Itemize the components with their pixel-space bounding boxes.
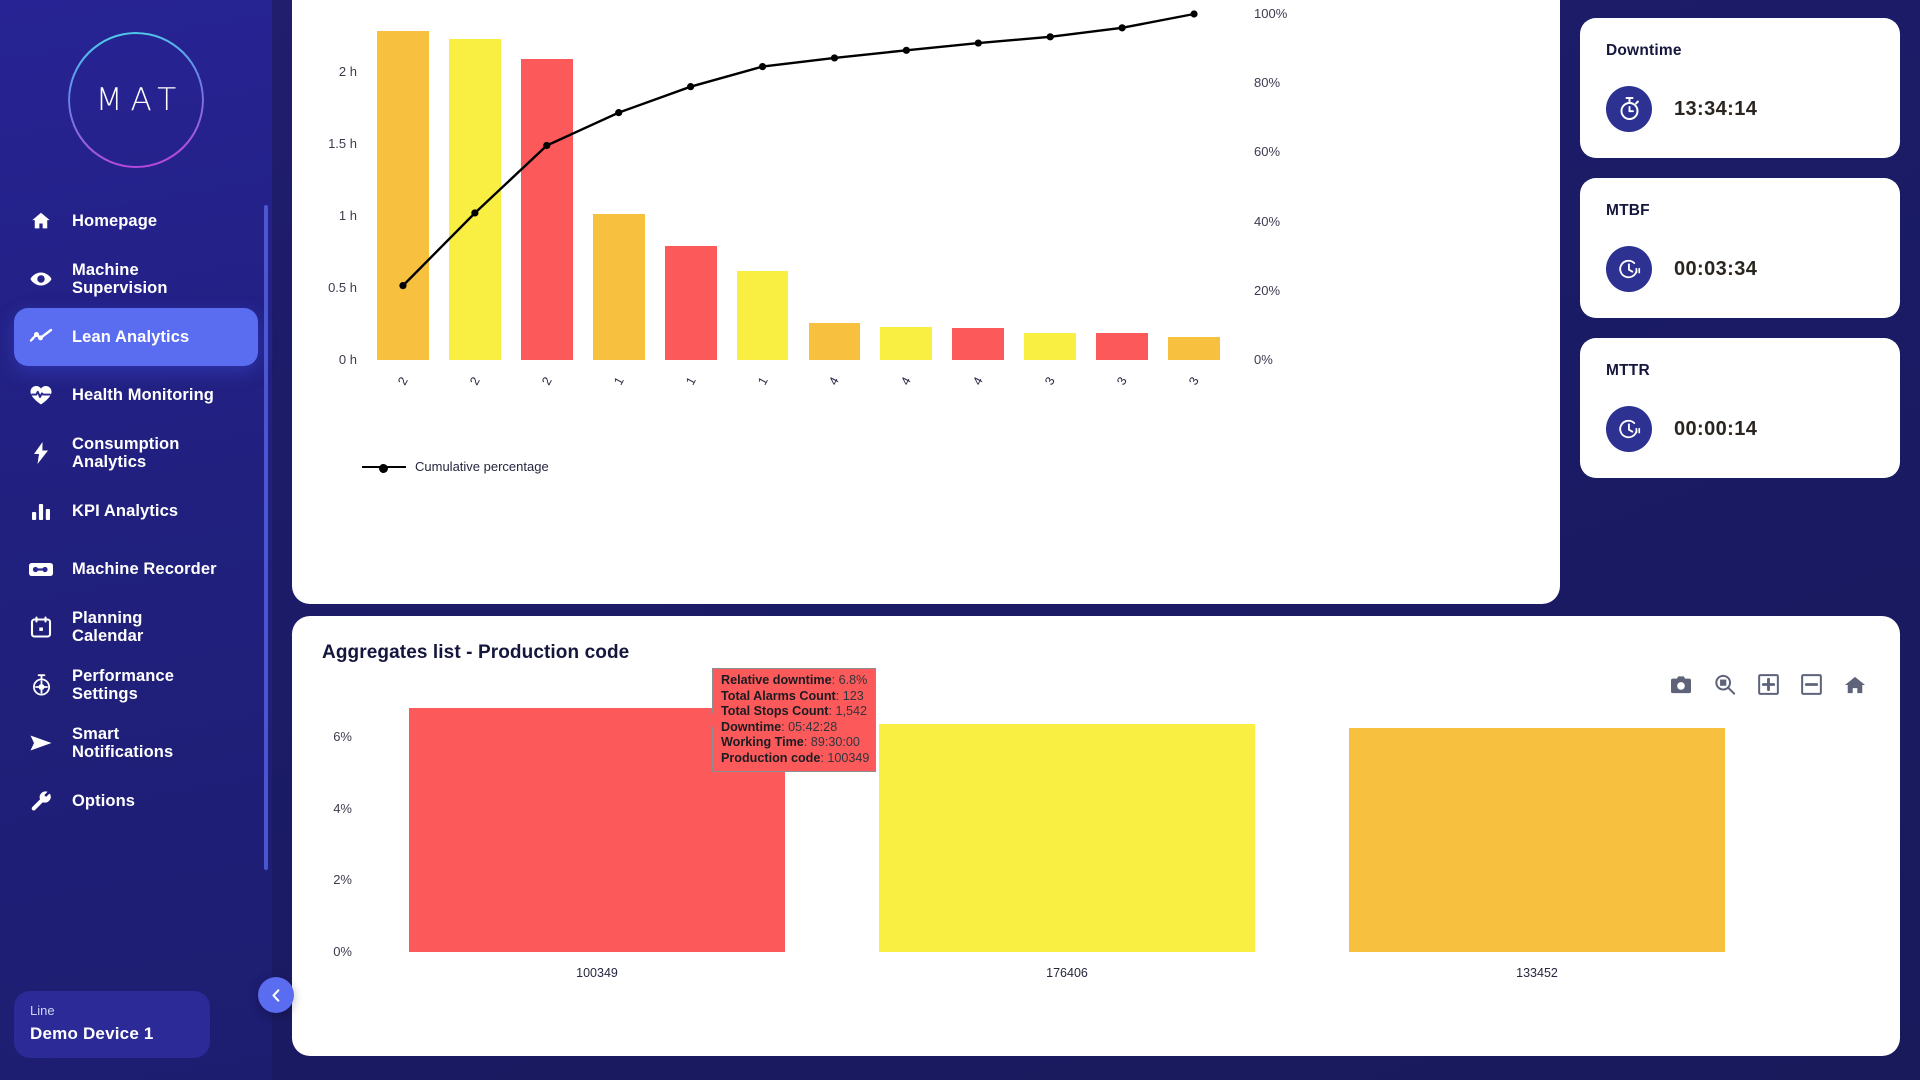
- sidebar-item-label: Performance Settings: [72, 667, 174, 704]
- tooltip-row: Working Time: 89:30:00: [721, 735, 869, 751]
- aggregates-bar[interactable]: [879, 724, 1255, 952]
- pareto-ytick-left: 2 h: [301, 64, 357, 79]
- chevron-left-icon: [269, 988, 284, 1003]
- tooltip-key: Total Alarms Count: [721, 689, 836, 703]
- pareto-ytick-right: 100%: [1254, 6, 1287, 21]
- sidebar-item-label: Planning Calendar: [72, 609, 143, 646]
- sidebar-item-label: Health Monitoring: [72, 386, 214, 404]
- bar-chart-icon: [26, 500, 56, 522]
- device-label: Line: [30, 1003, 194, 1018]
- aggregates-xtick: 133452: [1477, 966, 1597, 980]
- recorder-icon: [26, 559, 56, 579]
- pareto-xtick: 2: [535, 367, 559, 395]
- kpi-column: Downtime 13:34:14 MTBF 00:03:34: [1580, 0, 1900, 498]
- sidebar-item-smart-notifications[interactable]: Smart Notifications: [14, 714, 258, 772]
- kpi-value: 00:00:14: [1674, 418, 1757, 441]
- tooltip-row: Production code: 100349: [721, 751, 869, 767]
- sidebar-item-label: Machine Supervision: [72, 261, 168, 298]
- pareto-xtick: 3: [1038, 367, 1062, 395]
- aggregates-panel: Aggregates list - Production code 0%2%4%…: [292, 616, 1900, 1056]
- pareto-xtick: 2: [463, 367, 487, 395]
- tooltip-value: : 89:30:00: [804, 735, 860, 749]
- pareto-bar[interactable]: [952, 328, 1004, 360]
- sidebar-nav: Homepage Machine Supervision Lean Analyt…: [0, 192, 272, 830]
- pareto-ytick-left: 1.5 h: [301, 136, 357, 151]
- tooltip-value: : 100349: [820, 751, 869, 765]
- sidebar-item-homepage[interactable]: Homepage: [14, 192, 258, 250]
- sidebar-item-health-monitoring[interactable]: Health Monitoring: [14, 366, 258, 424]
- bar-tooltip: Relative downtime: 6.8%Total Alarms Coun…: [712, 668, 876, 772]
- sidebar-collapse-button[interactable]: [258, 977, 294, 1013]
- pareto-ytick-right: 60%: [1254, 144, 1280, 159]
- pareto-plot-area: 0 h0.5 h1 h1.5 h2 h0%20%40%60%80%100%222…: [292, 0, 1560, 604]
- aggregates-bar[interactable]: [1349, 728, 1725, 952]
- pareto-xtick: 4: [895, 367, 919, 395]
- pareto-ytick-right: 80%: [1254, 75, 1280, 90]
- pareto-ytick-right: 40%: [1254, 214, 1280, 229]
- tooltip-value: : 05:42:28: [781, 720, 837, 734]
- pareto-xtick: 3: [1110, 367, 1134, 395]
- pareto-ytick-left: 1 h: [301, 208, 357, 223]
- kpi-title: Downtime: [1606, 42, 1874, 60]
- app-root: MAT Homepage Machine Supervision Lean An: [0, 0, 1920, 1080]
- sidebar-item-label: Smart Notifications: [72, 725, 173, 762]
- logo-ring: [68, 32, 204, 168]
- tooltip-value: : 123: [836, 689, 864, 703]
- kpi-title: MTBF: [1606, 202, 1874, 220]
- sidebar-item-label: Consumption Analytics: [72, 435, 179, 472]
- pareto-xtick: 4: [823, 367, 847, 395]
- sidebar-item-machine-supervision[interactable]: Machine Supervision: [14, 250, 258, 308]
- pareto-bar[interactable]: [1096, 333, 1148, 360]
- pareto-bar[interactable]: [377, 31, 429, 360]
- sidebar-item-label: KPI Analytics: [72, 502, 178, 520]
- aggregates-ytick: 6%: [298, 729, 352, 744]
- sidebar-item-options[interactable]: Options: [14, 772, 258, 830]
- sidebar-item-performance-settings[interactable]: Performance Settings: [14, 656, 258, 714]
- pareto-xtick: 1: [607, 367, 631, 395]
- eye-icon: [26, 267, 56, 291]
- device-name: Demo Device 1: [30, 1024, 194, 1044]
- tooltip-value: : 6.8%: [832, 673, 868, 687]
- wrench-icon: [26, 790, 56, 813]
- tooltip-row: Total Stops Count: 1,542: [721, 704, 869, 720]
- aggregates-ytick: 2%: [298, 872, 352, 887]
- tooltip-key: Downtime: [721, 720, 781, 734]
- stopwatch-icon: [1606, 86, 1652, 132]
- kpi-card-downtime: Downtime 13:34:14: [1580, 18, 1900, 158]
- kpi-value: 13:34:14: [1674, 98, 1757, 121]
- sidebar-item-consumption-analytics[interactable]: Consumption Analytics: [14, 424, 258, 482]
- kpi-value: 00:03:34: [1674, 258, 1757, 281]
- chart-legend[interactable]: Cumulative percentage: [362, 459, 549, 474]
- pareto-bar[interactable]: [593, 214, 645, 360]
- tooltip-row: Relative downtime: 6.8%: [721, 673, 869, 689]
- sidebar-item-label: Machine Recorder: [72, 560, 217, 578]
- kpi-title: MTTR: [1606, 362, 1874, 380]
- sidebar-item-machine-recorder[interactable]: Machine Recorder: [14, 540, 258, 598]
- device-selector[interactable]: Line Demo Device 1: [14, 991, 210, 1058]
- sidebar-item-planning-calendar[interactable]: Planning Calendar: [14, 598, 258, 656]
- cumulative-percentage-line: [292, 0, 1292, 434]
- aggregates-xtick: 100349: [537, 966, 657, 980]
- pareto-ytick-left: 0 h: [301, 352, 357, 367]
- pareto-bar[interactable]: [809, 323, 861, 360]
- sidebar-item-lean-analytics[interactable]: Lean Analytics: [14, 308, 258, 366]
- tooltip-key: Working Time: [721, 735, 804, 749]
- pareto-bar[interactable]: [880, 327, 932, 360]
- sidebar-item-label: Options: [72, 792, 135, 810]
- pareto-ytick-right: 20%: [1254, 283, 1280, 298]
- sidebar-item-label: Homepage: [72, 212, 157, 230]
- pareto-ytick-left: 0.5 h: [301, 280, 357, 295]
- sidebar: MAT Homepage Machine Supervision Lean An: [0, 0, 272, 1080]
- clock-pause-icon: [1606, 406, 1652, 452]
- aggregates-ytick: 0%: [298, 944, 352, 959]
- pareto-bar[interactable]: [1024, 333, 1076, 360]
- pareto-xtick: 4: [966, 367, 990, 395]
- pareto-xtick: 1: [751, 367, 775, 395]
- kpi-card-mttr: MTTR 00:00:14: [1580, 338, 1900, 478]
- pareto-ytick-right: 0%: [1254, 352, 1273, 367]
- legend-label: Cumulative percentage: [415, 459, 549, 474]
- legend-line-marker: [362, 466, 406, 468]
- tooltip-value: : 1,542: [829, 704, 868, 718]
- home-icon: [26, 210, 56, 232]
- kpi-card-mtbf: MTBF 00:03:34: [1580, 178, 1900, 318]
- tooltip-key: Production code: [721, 751, 820, 765]
- tooltip-row: Downtime: 05:42:28: [721, 720, 869, 736]
- pareto-xtick: 3: [1182, 367, 1206, 395]
- heart-pulse-icon: [26, 384, 56, 406]
- tooltip-row: Total Alarms Count: 123: [721, 689, 869, 705]
- send-icon: [26, 733, 56, 753]
- aggregates-ytick: 4%: [298, 801, 352, 816]
- app-logo: MAT: [68, 32, 204, 168]
- bolt-icon: [26, 441, 56, 465]
- pareto-xtick: 2: [391, 367, 415, 395]
- aggregates-plot-area: 0%2%4%6%100349176406133452: [292, 674, 1900, 1056]
- sidebar-item-kpi-analytics[interactable]: KPI Analytics: [14, 482, 258, 540]
- stopwatch-gear-icon: [26, 673, 56, 697]
- sidebar-scrollbar[interactable]: [264, 205, 268, 870]
- aggregates-xtick: 176406: [1007, 966, 1127, 980]
- pareto-bar[interactable]: [737, 271, 789, 360]
- aggregates-title: Aggregates list - Production code: [292, 616, 1900, 664]
- pareto-bar[interactable]: [665, 246, 717, 360]
- line-chart-icon: [26, 326, 56, 348]
- clock-pause-icon: [1606, 246, 1652, 292]
- tooltip-key: Relative downtime: [721, 673, 832, 687]
- pareto-bar[interactable]: [521, 59, 573, 360]
- pareto-chart-panel: 0 h0.5 h1 h1.5 h2 h0%20%40%60%80%100%222…: [292, 0, 1560, 604]
- tooltip-key: Total Stops Count: [721, 704, 829, 718]
- pareto-xtick: 1: [679, 367, 703, 395]
- pareto-bar[interactable]: [449, 39, 501, 360]
- calendar-icon: [26, 616, 56, 638]
- sidebar-item-label: Lean Analytics: [72, 328, 189, 346]
- main-content: 0 h0.5 h1 h1.5 h2 h0%20%40%60%80%100%222…: [272, 0, 1920, 1080]
- pareto-bar[interactable]: [1168, 337, 1220, 360]
